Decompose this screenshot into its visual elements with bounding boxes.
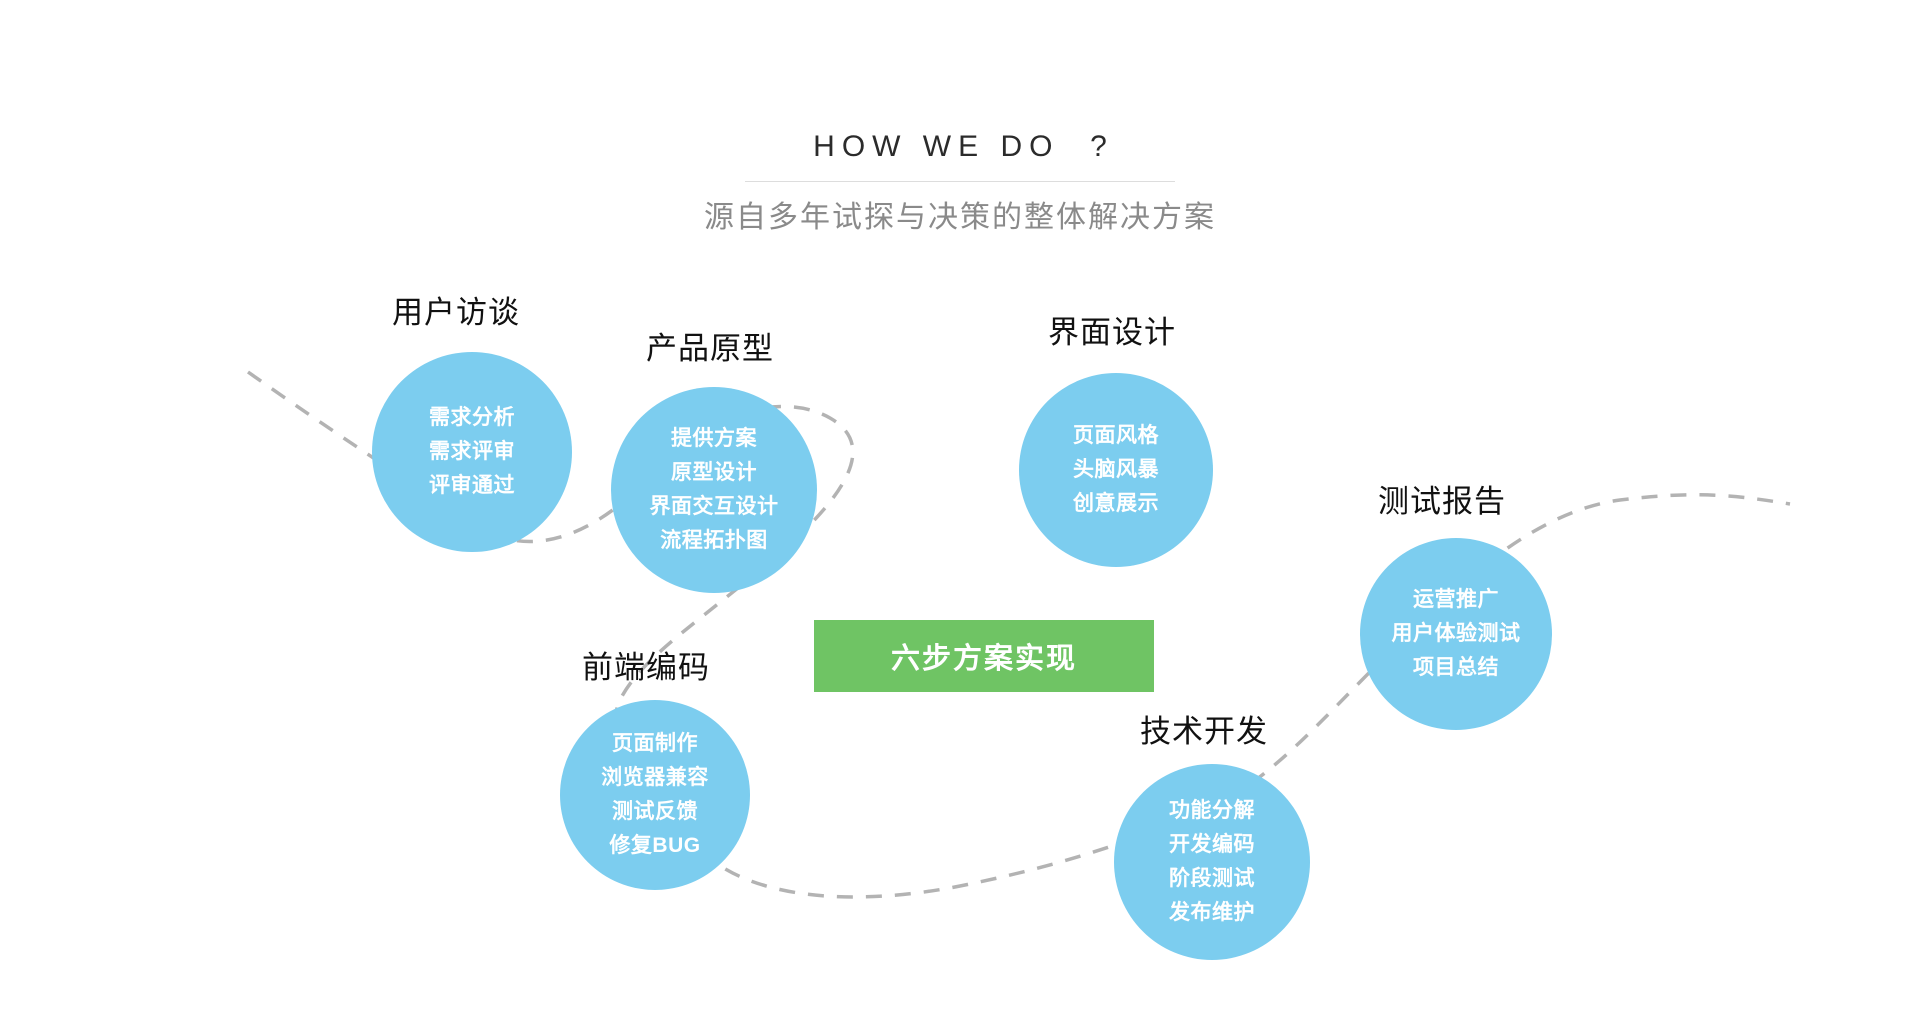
page-subtitle: 源自多年试探与决策的整体解决方案 bbox=[0, 198, 1920, 238]
node-item: 评审通过 bbox=[429, 469, 515, 503]
node-label-interface-design: 界面设计 bbox=[1048, 315, 1176, 351]
infographic-canvas: HOW WE DO ? 源自多年试探与决策的整体解决方案 用户访谈需求分析需求评… bbox=[0, 0, 1920, 1011]
header: HOW WE DO ? 源自多年试探与决策的整体解决方案 bbox=[0, 128, 1920, 238]
node-item: 功能分解 bbox=[1169, 794, 1255, 828]
node-item: 页面制作 bbox=[612, 727, 698, 761]
node-item: 项目总结 bbox=[1413, 651, 1499, 685]
node-circle-product-prototype[interactable]: 提供方案原型设计界面交互设计流程拓扑图 bbox=[611, 387, 817, 593]
node-item: 用户体验测试 bbox=[1392, 617, 1521, 651]
node-label-test-report: 测试报告 bbox=[1378, 484, 1506, 520]
page-title: HOW WE DO ? bbox=[0, 128, 1920, 166]
node-circle-frontend-coding[interactable]: 页面制作浏览器兼容测试反馈修复BUG bbox=[560, 700, 750, 890]
center-badge-label: 六步方案实现 bbox=[891, 635, 1077, 677]
header-divider bbox=[745, 181, 1175, 182]
node-item: 运营推广 bbox=[1413, 583, 1499, 617]
node-item: 测试反馈 bbox=[612, 795, 698, 829]
node-item: 创意展示 bbox=[1073, 487, 1159, 521]
node-item: 提供方案 bbox=[671, 422, 757, 456]
node-label-product-prototype: 产品原型 bbox=[646, 331, 774, 367]
node-circle-user-interview[interactable]: 需求分析需求评审评审通过 bbox=[372, 352, 572, 552]
node-label-frontend-coding: 前端编码 bbox=[582, 650, 710, 686]
node-item: 发布维护 bbox=[1169, 896, 1255, 930]
node-item: 阶段测试 bbox=[1169, 862, 1255, 896]
node-label-tech-development: 技术开发 bbox=[1140, 714, 1268, 750]
node-item: 浏览器兼容 bbox=[601, 761, 709, 795]
node-item: 流程拓扑图 bbox=[660, 524, 768, 558]
node-item: 需求分析 bbox=[429, 401, 515, 435]
node-item: 原型设计 bbox=[671, 456, 757, 490]
node-circle-interface-design[interactable]: 页面风格头脑风暴创意展示 bbox=[1019, 373, 1213, 567]
node-item: 开发编码 bbox=[1169, 828, 1255, 862]
node-item: 修复BUG bbox=[609, 829, 700, 863]
node-circle-tech-development[interactable]: 功能分解开发编码阶段测试发布维护 bbox=[1114, 764, 1310, 960]
node-item: 需求评审 bbox=[429, 435, 515, 469]
center-badge[interactable]: 六步方案实现 bbox=[814, 620, 1154, 692]
node-item: 页面风格 bbox=[1073, 419, 1159, 453]
node-circle-test-report[interactable]: 运营推广用户体验测试项目总结 bbox=[1360, 538, 1552, 730]
node-item: 头脑风暴 bbox=[1073, 453, 1159, 487]
node-item: 界面交互设计 bbox=[650, 490, 779, 524]
node-label-user-interview: 用户访谈 bbox=[392, 295, 520, 331]
